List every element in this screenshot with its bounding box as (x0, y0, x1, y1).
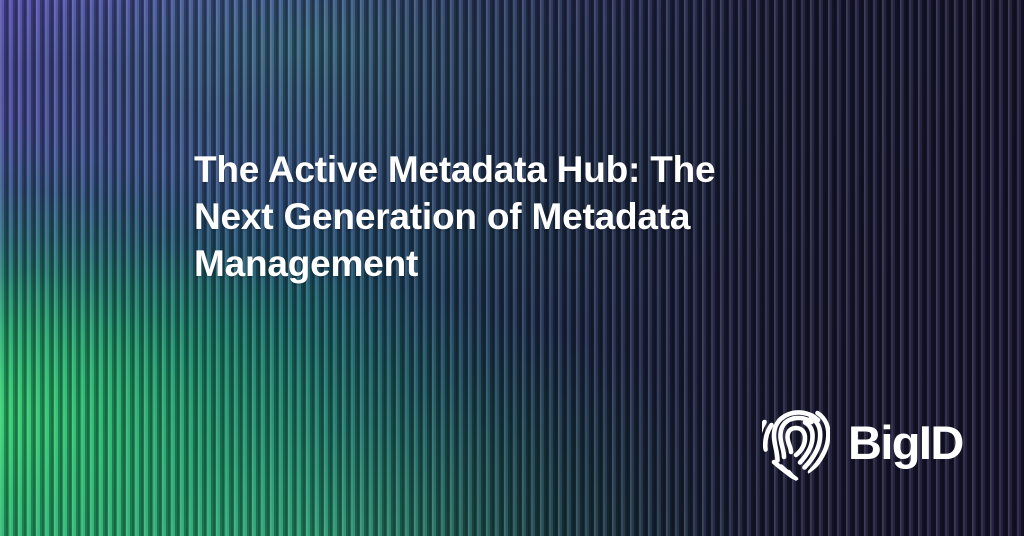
bigid-fingerprint-shield-icon (758, 400, 834, 482)
headline-line-1: The Active Metadata Hub: The (194, 149, 715, 190)
banner-headline: The Active Metadata Hub: The Next Genera… (194, 146, 874, 287)
bigid-wordmark: BigID (848, 419, 963, 466)
headline-line-2: Next Generation of Metadata (194, 196, 690, 237)
headline-line-3: Management (194, 243, 418, 284)
marketing-banner: The Active Metadata Hub: The Next Genera… (0, 0, 1024, 536)
bigid-logo: BigID (758, 400, 963, 482)
